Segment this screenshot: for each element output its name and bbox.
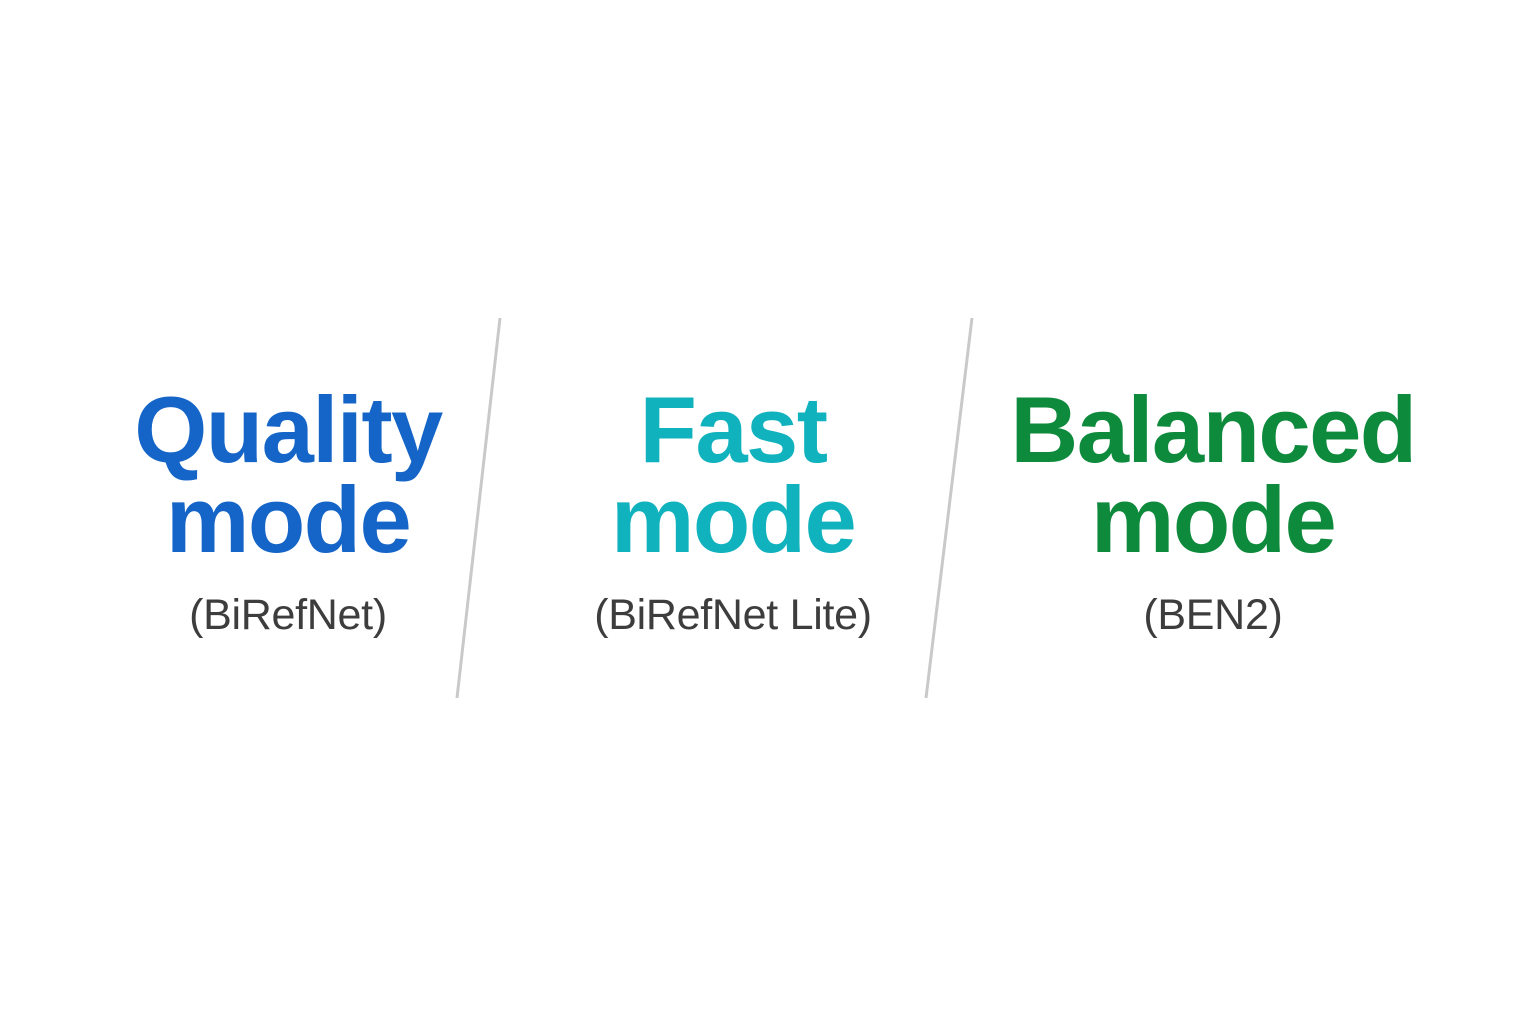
mode-panel-quality[interactable]: Quality mode (BiRefNet) xyxy=(73,385,503,639)
mode-comparison-graphic: Quality mode (BiRefNet) Fast mode (BiRef… xyxy=(0,0,1536,1024)
mode-subtitle-quality: (BiRefNet) xyxy=(189,592,387,639)
mode-subtitle-fast: (BiRefNet Lite) xyxy=(594,592,871,639)
mode-title-balanced: Balanced mode xyxy=(1010,385,1415,565)
mode-columns: Quality mode (BiRefNet) Fast mode (BiRef… xyxy=(0,0,1536,1024)
mode-subtitle-balanced: (BEN2) xyxy=(1143,592,1282,639)
mode-panel-balanced[interactable]: Balanced mode (BEN2) xyxy=(963,385,1463,639)
mode-title-fast: Fast mode xyxy=(611,385,855,565)
mode-title-quality: Quality mode xyxy=(134,385,441,565)
mode-panel-fast[interactable]: Fast mode (BiRefNet Lite) xyxy=(503,385,963,639)
